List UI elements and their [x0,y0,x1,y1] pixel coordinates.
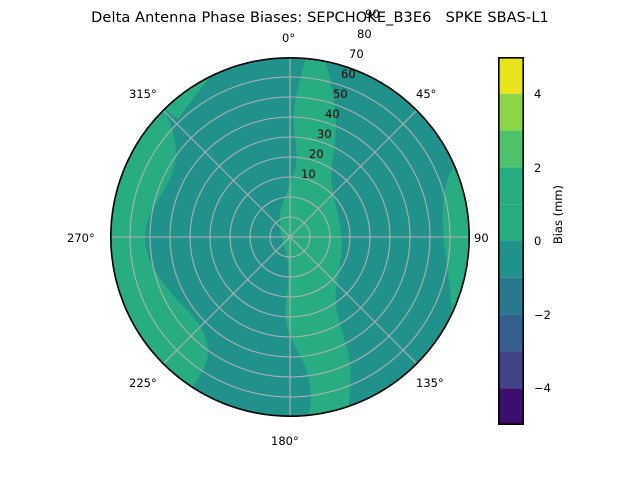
angular-tick-label-315: 315° [129,87,157,101]
figure-title: Delta Antenna Phase Biases: SEPCHOKE_B3E… [0,10,640,26]
polar-plot-svg [110,57,470,417]
colorbar-tick-label-2: 2 [534,161,541,175]
radial-tick-label-20: 20 [309,147,324,161]
colorbar-tick-label-neg2: −2 [534,308,551,322]
colorbar-tick-label-neg4: −4 [534,381,551,395]
radial-tick-label-80: 80 [357,27,372,41]
colorbar-band-1-to-2 [498,167,524,204]
colorbar-band-neg4-to-neg3 [498,351,524,388]
radial-tick-label-50: 50 [333,87,348,101]
colorbar-tick-label-4: 4 [534,87,541,101]
angular-tick-label-45: 45° [416,87,436,101]
radial-tick-label-70: 70 [349,47,364,61]
radial-tick-label-10: 10 [301,167,316,181]
angular-tick-label-90: 90 [474,231,489,245]
radial-tick-label-40: 40 [325,107,340,121]
angular-tick-label-180: 180° [271,434,299,448]
angular-tick-label-135: 135° [416,376,444,390]
colorbar-tick-label-0: 0 [534,234,541,248]
radial-tick-label-30: 30 [317,127,332,141]
radial-tick-label-90: 90 [365,7,380,21]
polar-axes[interactable]: 10 20 30 40 50 60 70 80 90 [110,57,470,417]
colorbar-band-neg1-to-0 [498,241,524,278]
angular-tick-label-270: 270° [67,231,95,245]
colorbar-band-0-to-1 [498,204,524,241]
angular-tick-label-0: 0° [282,31,295,45]
angular-gridlines [110,57,470,417]
angular-tick-label-225: 225° [129,376,157,390]
colorbar[interactable] [498,57,524,425]
radial-tick-label-60: 60 [341,67,356,81]
colorbar-band-neg3-to-neg2 [498,315,524,352]
colorbar-band-neg5-to-neg4 [498,388,524,425]
figure-canvas: Delta Antenna Phase Biases: SEPCHOKE_B3E… [0,0,640,480]
colorbar-band-4-to-5 [498,57,524,94]
colorbar-axis-title: Bias (mm) [551,185,565,244]
colorbar-band-2-to-3 [498,131,524,168]
colorbar-band-neg2-to-neg1 [498,278,524,315]
colorbar-svg [498,57,524,425]
colorbar-band-3-to-4 [498,94,524,131]
colorbar-bands [498,57,524,425]
